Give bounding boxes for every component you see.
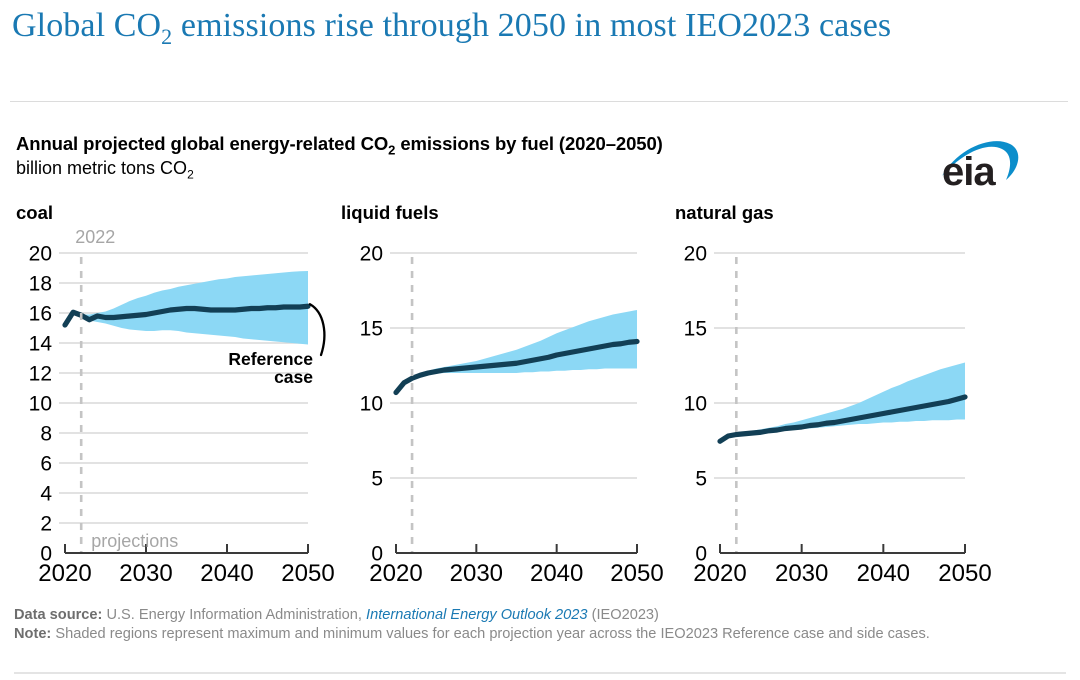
y-tick-label-10: 10 xyxy=(360,393,383,416)
eia-logo-svg: eia xyxy=(940,138,1024,190)
y-tick-label-10: 10 xyxy=(684,393,707,416)
page-title-text-after: emissions rise through 2050 in most IEO2… xyxy=(172,7,891,44)
projection-range-band xyxy=(396,310,637,393)
y-tick-label-2: 2 xyxy=(40,513,52,536)
panel-coal: coal 02468101214161820202020302040205020… xyxy=(0,200,340,590)
y-tick-label-6: 6 xyxy=(40,453,52,476)
page-title-subscript: 2 xyxy=(161,24,172,49)
reference-case-pointer xyxy=(310,304,324,355)
y-tick-label-5: 5 xyxy=(695,468,707,491)
reference-case-label-line1: Reference xyxy=(228,349,313,369)
page-title-text-before: Global CO xyxy=(12,7,161,44)
footer-note-text: Shaded regions represent maximum and min… xyxy=(51,626,930,642)
y-tick-label-18: 18 xyxy=(29,273,52,296)
x-tick-label-2050: 2050 xyxy=(938,560,991,587)
title-divider xyxy=(10,101,1068,102)
chart-subtitle: Annual projected global energy-related C… xyxy=(16,133,663,155)
y-tick-label-5: 5 xyxy=(371,468,383,491)
footer-notes: Data source: U.S. Energy Information Adm… xyxy=(14,606,1069,645)
footer-source-text: U.S. Energy Information Administration, xyxy=(102,607,366,623)
x-tick-label-2020: 2020 xyxy=(38,560,91,587)
x-tick-label-2040: 2040 xyxy=(530,560,583,587)
footer-divider xyxy=(14,672,1066,674)
chart-subtitle-before: Annual projected global energy-related C… xyxy=(16,133,388,154)
footer-source-label: Data source: xyxy=(14,607,102,623)
chart-units-subscript: 2 xyxy=(187,168,194,182)
footer-note-label: Note: xyxy=(14,626,51,642)
x-tick-label-2020: 2020 xyxy=(693,560,746,587)
x-tick-label-2050: 2050 xyxy=(281,560,334,587)
y-tick-label-20: 20 xyxy=(360,243,383,266)
x-tick-label-2040: 2040 xyxy=(200,560,253,587)
chart-units-before: billion metric tons CO xyxy=(16,158,187,178)
panel-liquid-fuels: liquid fuels 051015202020203020402050 xyxy=(330,200,670,590)
y-tick-label-16: 16 xyxy=(29,303,52,326)
chart-subtitle-after: emissions by fuel (2020–2050) xyxy=(395,133,662,154)
projection-range-band xyxy=(720,363,965,442)
y-tick-label-15: 15 xyxy=(684,318,707,341)
eia-logo-wordmark: eia xyxy=(942,150,996,190)
footer-note-line: Note: Shaded regions represent maximum a… xyxy=(14,625,1069,644)
y-tick-label-8: 8 xyxy=(40,423,52,446)
y-tick-label-15: 15 xyxy=(360,318,383,341)
y-tick-label-20: 20 xyxy=(29,243,52,266)
x-tick-label-2030: 2030 xyxy=(450,560,503,587)
x-tick-label-2030: 2030 xyxy=(119,560,172,587)
y-tick-label-10: 10 xyxy=(29,393,52,416)
infographic-root: Global CO2 emissions rise through 2050 i… xyxy=(0,0,1080,680)
x-tick-label-2050: 2050 xyxy=(610,560,663,587)
x-tick-label-2040: 2040 xyxy=(857,560,910,587)
eia-logo: eia xyxy=(940,138,1024,190)
footer-source-line: Data source: U.S. Energy Information Adm… xyxy=(14,606,1069,625)
reference-case-label-line2: case xyxy=(274,367,313,387)
plot-liquid-fuels: 051015202020203020402050 xyxy=(330,200,670,590)
projections-label: projections xyxy=(91,531,178,551)
footer-source-link[interactable]: International Energy Outlook 2023 xyxy=(366,607,588,623)
plot-coal: 0246810121416182020202030204020502022pro… xyxy=(0,200,340,590)
y-tick-label-14: 14 xyxy=(29,333,53,356)
x-tick-label-2020: 2020 xyxy=(369,560,422,587)
y-tick-label-4: 4 xyxy=(40,483,52,506)
y-tick-label-20: 20 xyxy=(684,243,707,266)
projection-year-label: 2022 xyxy=(75,227,115,247)
chart-units-label: billion metric tons CO2 xyxy=(16,158,194,179)
y-tick-label-12: 12 xyxy=(29,363,52,386)
page-title: Global CO2 emissions rise through 2050 i… xyxy=(12,4,1062,47)
plot-natural-gas: 051015202020203020402050 xyxy=(662,200,1007,590)
x-tick-label-2030: 2030 xyxy=(775,560,828,587)
footer-source-suffix: (IEO2023) xyxy=(588,607,659,623)
panel-natural-gas: natural gas 051015202020203020402050 xyxy=(662,200,1007,590)
